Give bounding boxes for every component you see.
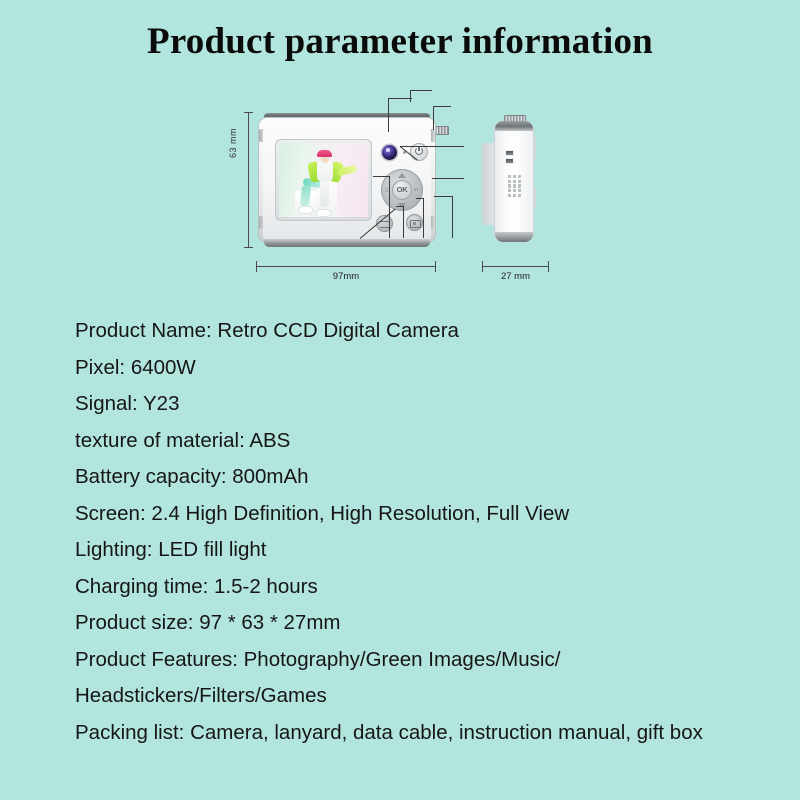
screen-model-shoe-right bbox=[317, 210, 330, 216]
spec-texture-of-material: texture of material: ABS bbox=[75, 423, 785, 460]
spec-product-name: Product Name: Retro CCD Digital Camera bbox=[75, 313, 785, 350]
menu-icon bbox=[380, 221, 389, 228]
leader-line-edge-h bbox=[434, 196, 452, 197]
body-shell: ⊙ ↵ OK bbox=[258, 117, 436, 243]
leader-line-lens-h bbox=[388, 98, 412, 99]
leader-line-dpad-right bbox=[432, 178, 464, 179]
page-title: Product parameter information bbox=[0, 20, 800, 63]
dpad-up-icon[interactable] bbox=[398, 173, 406, 178]
screen-model-torso bbox=[317, 161, 333, 181]
spec-packing-list: Packing list: Camera, lanyard, data cabl… bbox=[75, 715, 785, 752]
spec-signal: Signal: Y23 bbox=[75, 386, 785, 423]
spec-product-features: Product Features: Photography/Green Imag… bbox=[75, 642, 785, 679]
leader-line-dpad-top bbox=[400, 146, 464, 147]
port-usb bbox=[506, 151, 513, 155]
side-top-cap bbox=[495, 121, 533, 131]
camera-front-view: ⊙ ↵ OK bbox=[258, 113, 436, 247]
lcd-screen-frame bbox=[275, 139, 372, 221]
leader-line-shot-h bbox=[416, 198, 424, 199]
spec-product-size: Product size: 97 * 63 * 27mm bbox=[75, 605, 785, 642]
leader-line-lens-v bbox=[388, 98, 389, 132]
side-bottom-cap bbox=[495, 232, 533, 242]
leader-line-shot-v bbox=[423, 198, 424, 238]
dimension-width-line bbox=[256, 266, 436, 267]
spec-screen: Screen: 2.4 High Definition, High Resolu… bbox=[75, 496, 785, 533]
power-icon bbox=[415, 147, 423, 155]
speaker-grille-icon bbox=[508, 175, 521, 197]
lcd-screen bbox=[279, 143, 368, 217]
leader-line-power-v bbox=[433, 106, 434, 130]
leader-line-ok-v bbox=[389, 176, 390, 238]
leader-line-power-h bbox=[433, 106, 451, 107]
screen-model-hat bbox=[317, 150, 332, 157]
dimension-width-label: 97mm bbox=[256, 271, 436, 282]
dimension-height-label: 63 mm bbox=[228, 128, 238, 158]
leader-line-ok bbox=[373, 176, 389, 177]
leader-line-ribbon-h bbox=[410, 90, 432, 91]
side-edge-lower bbox=[533, 187, 536, 209]
leader-line-menu-v bbox=[403, 206, 404, 238]
spec-pixel: Pixel: 6400W bbox=[75, 350, 785, 387]
spec-lighting: Lighting: LED fill light bbox=[75, 532, 785, 569]
screen-model-leg-straight bbox=[320, 179, 329, 207]
leader-line-menu-h bbox=[396, 206, 404, 207]
specification-list: Product Name: Retro CCD Digital Camera P… bbox=[75, 313, 785, 751]
spec-charging-time: Charging time: 1.5-2 hours bbox=[75, 569, 785, 606]
camera-lens-icon bbox=[382, 145, 397, 160]
shutter-mode-button[interactable] bbox=[406, 214, 423, 231]
dimension-depth-line bbox=[482, 266, 549, 267]
ok-button[interactable]: OK bbox=[392, 180, 412, 200]
dpad-right-icon[interactable]: ↵ bbox=[414, 187, 420, 194]
leader-line-ribbon-v bbox=[410, 90, 411, 102]
camera-side-view bbox=[482, 113, 550, 247]
product-diagram: 63 mm bbox=[0, 88, 800, 293]
camera-icon bbox=[410, 220, 421, 228]
port-card-slot bbox=[506, 159, 513, 163]
spec-battery-capacity: Battery capacity: 800mAh bbox=[75, 459, 785, 496]
leader-line-edge-v bbox=[452, 196, 453, 238]
body-bottom-edge bbox=[264, 239, 430, 247]
dimension-height-line bbox=[248, 112, 249, 248]
spec-product-features-cont: Headstickers/Filters/Games bbox=[75, 678, 785, 715]
dimension-depth-label: 27 mm bbox=[482, 271, 549, 282]
side-edge-upper bbox=[533, 137, 536, 159]
screen-model-shoe-left bbox=[299, 207, 312, 213]
